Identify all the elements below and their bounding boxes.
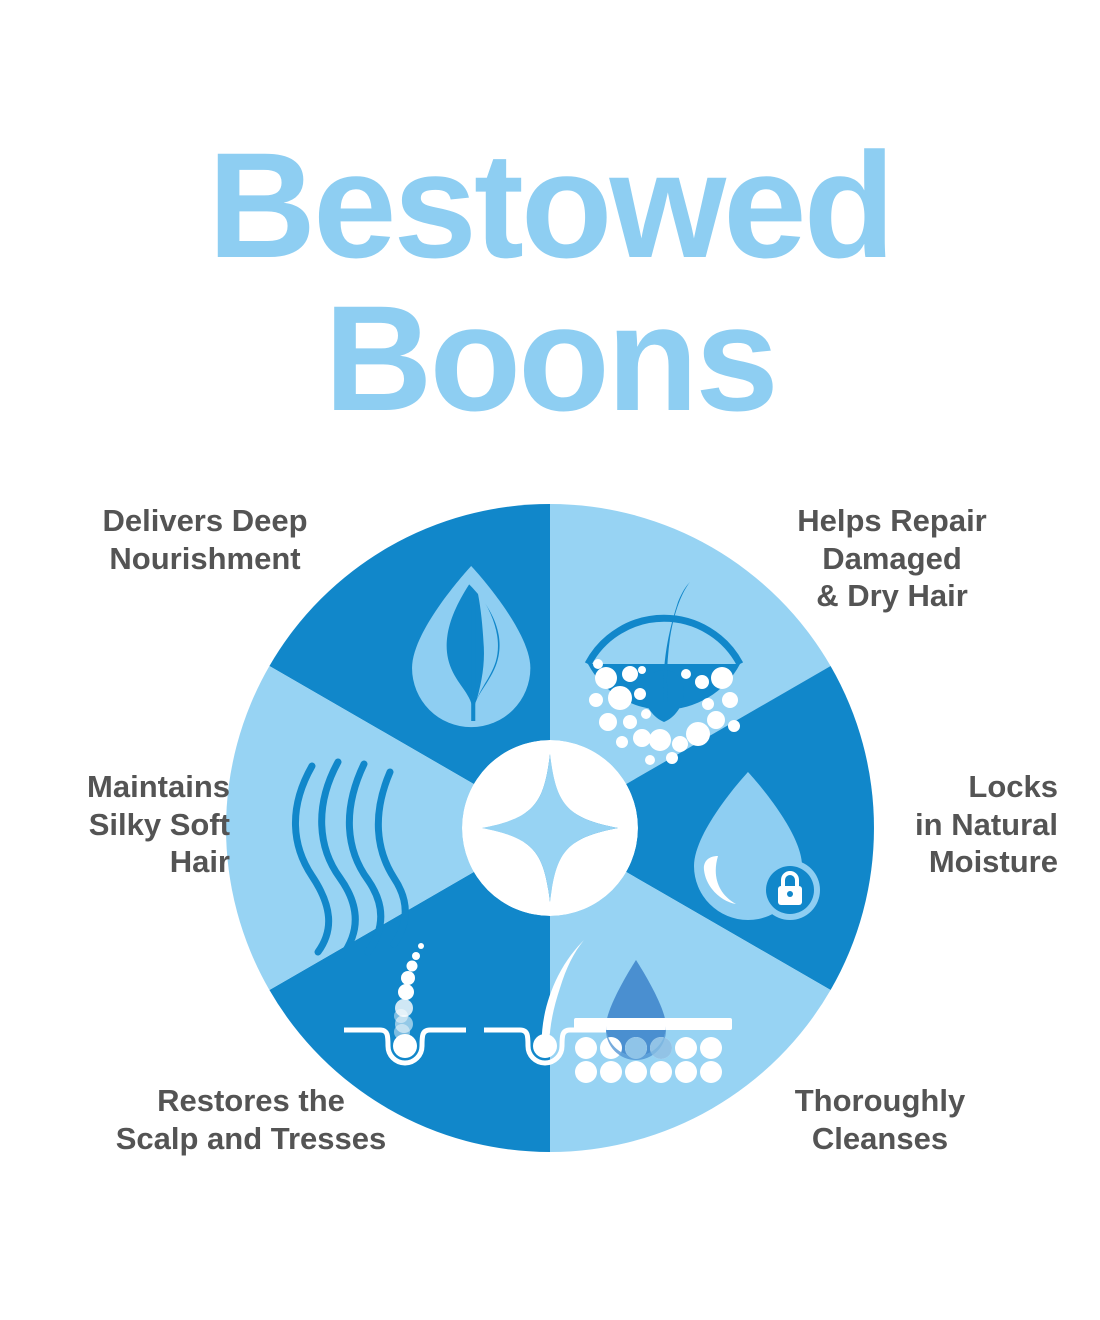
title-line-1: Bestowed bbox=[0, 132, 1100, 279]
label-deep-nourishment: Delivers Deep Nourishment bbox=[52, 502, 358, 577]
label-restores-scalp-tresses: Restores the Scalp and Tresses bbox=[72, 1082, 430, 1157]
title-line-2: Boons bbox=[0, 285, 1100, 432]
infographic-page: Bestowed Boons bbox=[0, 0, 1100, 1320]
page-title: Bestowed Boons bbox=[0, 132, 1100, 432]
label-silky-soft-hair: Maintains Silky Soft Hair bbox=[22, 768, 230, 881]
label-thoroughly-cleanses: Thoroughly Cleanses bbox=[740, 1082, 1020, 1157]
label-locks-natural-moisture: Locks in Natural Moisture bbox=[878, 768, 1058, 881]
label-repair-damaged-dry-hair: Helps Repair Damaged & Dry Hair bbox=[748, 502, 1036, 615]
